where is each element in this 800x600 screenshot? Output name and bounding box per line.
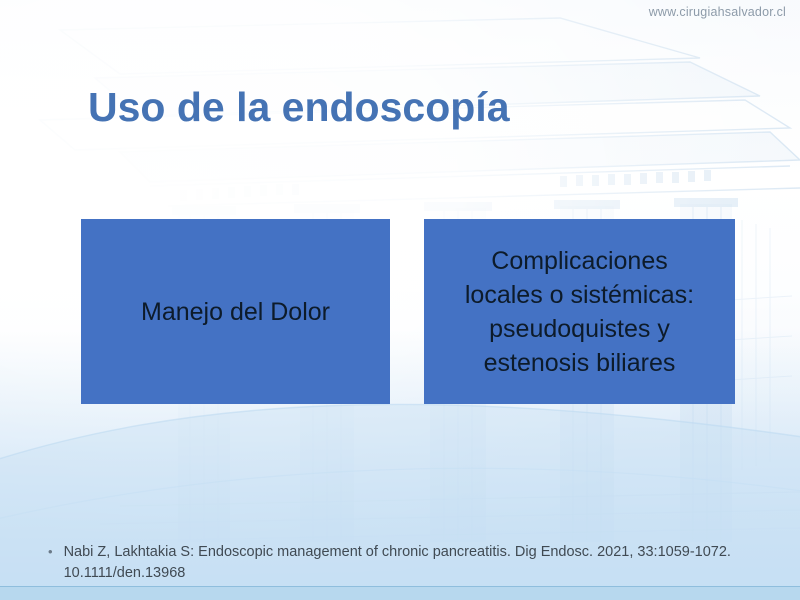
page-title: Uso de la endoscopía bbox=[88, 85, 510, 131]
box-line: locales o sistémicas: bbox=[430, 278, 729, 312]
box-line: pseudoquistes y bbox=[430, 312, 729, 346]
box-line: estenosis biliares bbox=[430, 346, 729, 380]
citation-text: Nabi Z, Lakhtakia S: Endoscopic manageme… bbox=[64, 542, 738, 584]
bullet-icon: • bbox=[48, 542, 53, 562]
presentation-slide: www.cirugiahsalvador.cl Uso de la endosc… bbox=[0, 0, 800, 600]
content-box-complications: Complicaciones locales o sistémicas: pse… bbox=[424, 219, 735, 404]
content-box-pain-management-text: Manejo del Dolor bbox=[81, 295, 390, 329]
content-box-complications-text: Complicaciones locales o sistémicas: pse… bbox=[424, 244, 735, 380]
site-url-watermark: www.cirugiahsalvador.cl bbox=[649, 5, 786, 19]
content-box-pain-management: Manejo del Dolor bbox=[81, 219, 390, 404]
bottom-accent-band bbox=[0, 586, 800, 600]
box-line: Complicaciones bbox=[430, 244, 729, 278]
citation-footnote: • Nabi Z, Lakhtakia S: Endoscopic manage… bbox=[48, 542, 738, 584]
box-line: Manejo del Dolor bbox=[87, 295, 384, 329]
